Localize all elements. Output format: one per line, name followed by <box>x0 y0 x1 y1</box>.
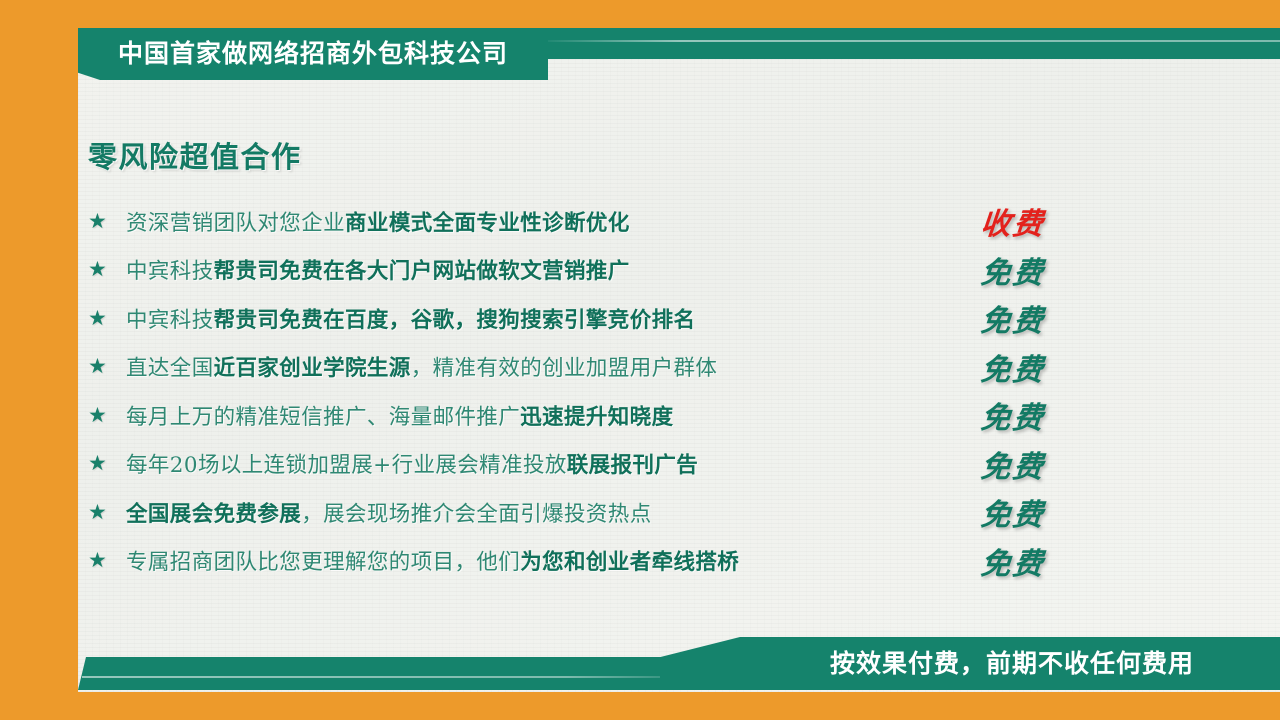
list-item: ★每年20场以上连锁加盟展+行业展会精准投放联展报刊广告免费 <box>88 440 1098 489</box>
star-icon: ★ <box>88 502 126 523</box>
list-item-text-emphasis: 联展报刊广告 <box>567 453 698 478</box>
list-item-text-normal-trailing: ，展会现场推介会全面引爆投资热点 <box>301 502 651 527</box>
list-item: ★资深营销团队对您企业商业模式全面专业性诊断优化收费 <box>88 197 1098 246</box>
slide-canvas: 中国首家做网络招商外包科技公司 零风险超值合作 ★资深营销团队对您企业商业模式全… <box>0 0 1280 720</box>
list-item-text-emphasis: 帮贵司免费在百度，谷歌，搜狗搜索引擎竞价排名 <box>214 308 696 333</box>
list-item-text-normal-leading: 资深营销团队对您企业 <box>126 211 345 236</box>
star-icon: ★ <box>88 308 126 329</box>
price-badge: 免费 <box>936 539 1090 583</box>
star-icon: ★ <box>88 211 126 232</box>
price-badge: 收费 <box>936 199 1090 243</box>
list-item-text-normal-leading: 专属招商团队比您更理解您的项目，他们 <box>126 550 520 575</box>
list-item-text-emphasis: 为您和创业者牵线搭桥 <box>520 550 739 575</box>
list-item-text-normal-trailing: ，精准有效的创业加盟用户群体 <box>411 356 718 381</box>
list-item-text-normal-leading: 每年20场以上连锁加盟展+行业展会精准投放 <box>126 453 567 478</box>
price-badge: 免费 <box>936 393 1090 437</box>
price-badge: 免费 <box>936 442 1090 486</box>
header-title: 中国首家做网络招商外包科技公司 <box>118 28 508 80</box>
list-item: ★中宾科技帮贵司免费在各大门户网站做软文营销推广免费 <box>88 246 1098 295</box>
star-icon: ★ <box>88 405 126 426</box>
star-icon: ★ <box>88 259 126 280</box>
list-item-text-emphasis: 帮贵司免费在各大门户网站做软文营销推广 <box>214 259 630 284</box>
price-badge: 免费 <box>936 345 1090 389</box>
list-item-text-emphasis: 商业模式全面专业性诊断优化 <box>345 211 630 236</box>
page-title: 零风险超值合作 <box>88 134 302 176</box>
list-item-text-normal-leading: 中宾科技 <box>126 308 214 333</box>
list-item-text-normal-leading: 中宾科技 <box>126 259 214 284</box>
price-badge: 免费 <box>936 490 1090 534</box>
star-icon: ★ <box>88 550 126 571</box>
list-item: ★全国展会免费参展，展会现场推介会全面引爆投资热点免费 <box>88 488 1098 537</box>
list-item: ★每月上万的精准短信推广、海量邮件推广迅速提升知晓度免费 <box>88 391 1098 440</box>
benefits-list: ★资深营销团队对您企业商业模式全面专业性诊断优化收费★中宾科技帮贵司免费在各大门… <box>88 197 1098 585</box>
star-icon: ★ <box>88 453 126 474</box>
list-item-text-emphasis: 迅速提升知晓度 <box>520 405 673 430</box>
footer-tagline: 按效果付费，前期不收任何费用 <box>830 637 1280 690</box>
list-item-text-normal-leading: 每月上万的精准短信推广、海量邮件推广 <box>126 405 520 430</box>
list-item: ★专属招商团队比您更理解您的项目，他们为您和创业者牵线搭桥免费 <box>88 537 1098 586</box>
list-item-text-emphasis: 全国展会免费参展 <box>126 502 301 527</box>
list-item-text-emphasis: 近百家创业学院生源 <box>214 356 411 381</box>
list-item: ★中宾科技帮贵司免费在百度，谷歌，搜狗搜索引擎竞价排名免费 <box>88 294 1098 343</box>
star-icon: ★ <box>88 356 126 377</box>
price-badge: 免费 <box>936 296 1090 340</box>
list-item-text-normal-leading: 直达全国 <box>126 356 214 381</box>
list-item: ★直达全国近百家创业学院生源，精准有效的创业加盟用户群体免费 <box>88 343 1098 392</box>
price-badge: 免费 <box>936 248 1090 292</box>
